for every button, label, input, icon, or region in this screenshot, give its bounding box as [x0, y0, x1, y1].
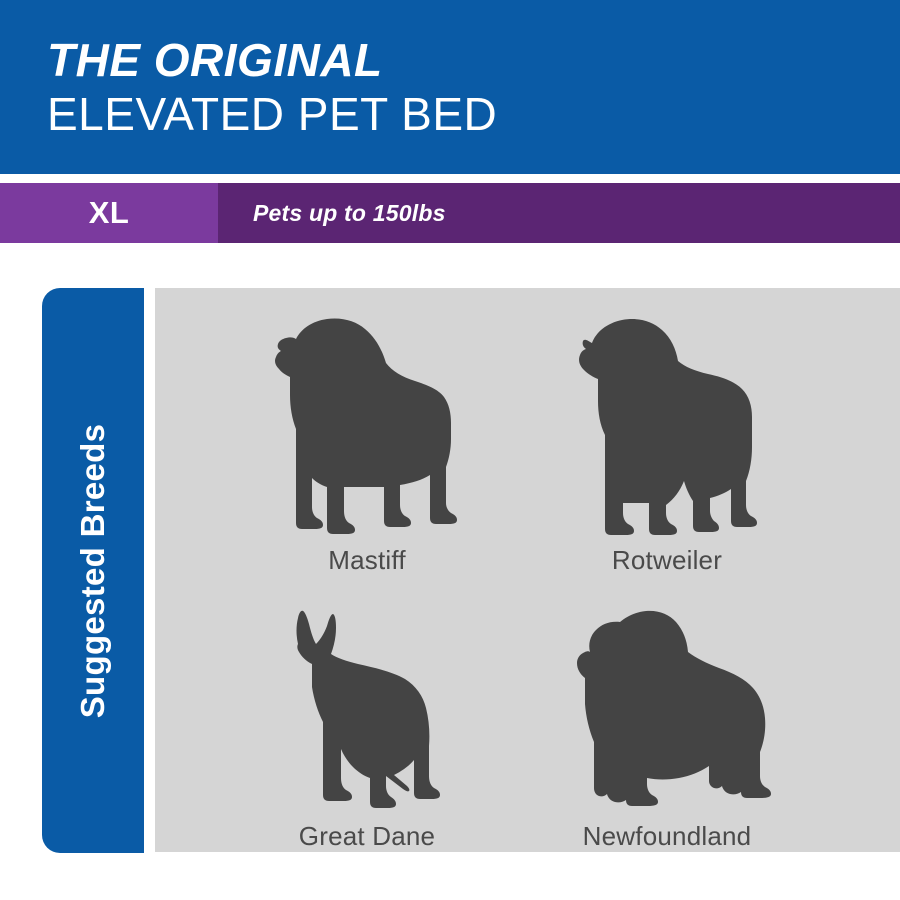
- suggested-breeds-tab-label: Suggested Breeds: [74, 423, 112, 718]
- size-badge: XL: [0, 183, 218, 243]
- rotweiler-silhouette-icon: [517, 294, 817, 539]
- mastiff-silhouette-icon: [217, 294, 517, 539]
- newfoundland-silhouette-icon: [517, 580, 817, 815]
- breed-label: Mastiff: [328, 545, 406, 576]
- suggested-breeds-panel: Mastiff Rotweiler Great Dane: [155, 288, 900, 852]
- breed-cell-great-dane: Great Dane: [217, 580, 517, 852]
- great-dane-silhouette-icon: [217, 580, 517, 815]
- size-description: Pets up to 150lbs: [253, 183, 446, 243]
- page-title: THE ORIGINAL ELEVATED PET BED: [47, 36, 497, 141]
- header-band: THE ORIGINAL ELEVATED PET BED: [0, 0, 900, 174]
- size-badge-label: XL: [89, 195, 130, 231]
- breed-grid: Mastiff Rotweiler Great Dane: [155, 288, 900, 852]
- size-band: XL Pets up to 150lbs: [0, 183, 900, 243]
- breed-cell-rotweiler: Rotweiler: [517, 294, 817, 576]
- title-line-secondary: ELEVATED PET BED: [47, 88, 497, 141]
- breed-label: Rotweiler: [612, 545, 722, 576]
- suggested-breeds-tab: Suggested Breeds: [42, 288, 144, 853]
- size-description-label: Pets up to 150lbs: [253, 200, 446, 227]
- breed-label: Great Dane: [299, 821, 435, 852]
- pet-bed-size-infographic: THE ORIGINAL ELEVATED PET BED XL Pets up…: [0, 0, 900, 900]
- breed-label: Newfoundland: [583, 821, 752, 852]
- breed-cell-mastiff: Mastiff: [217, 294, 517, 576]
- title-line-primary: THE ORIGINAL: [47, 36, 497, 84]
- breed-cell-newfoundland: Newfoundland: [517, 580, 817, 852]
